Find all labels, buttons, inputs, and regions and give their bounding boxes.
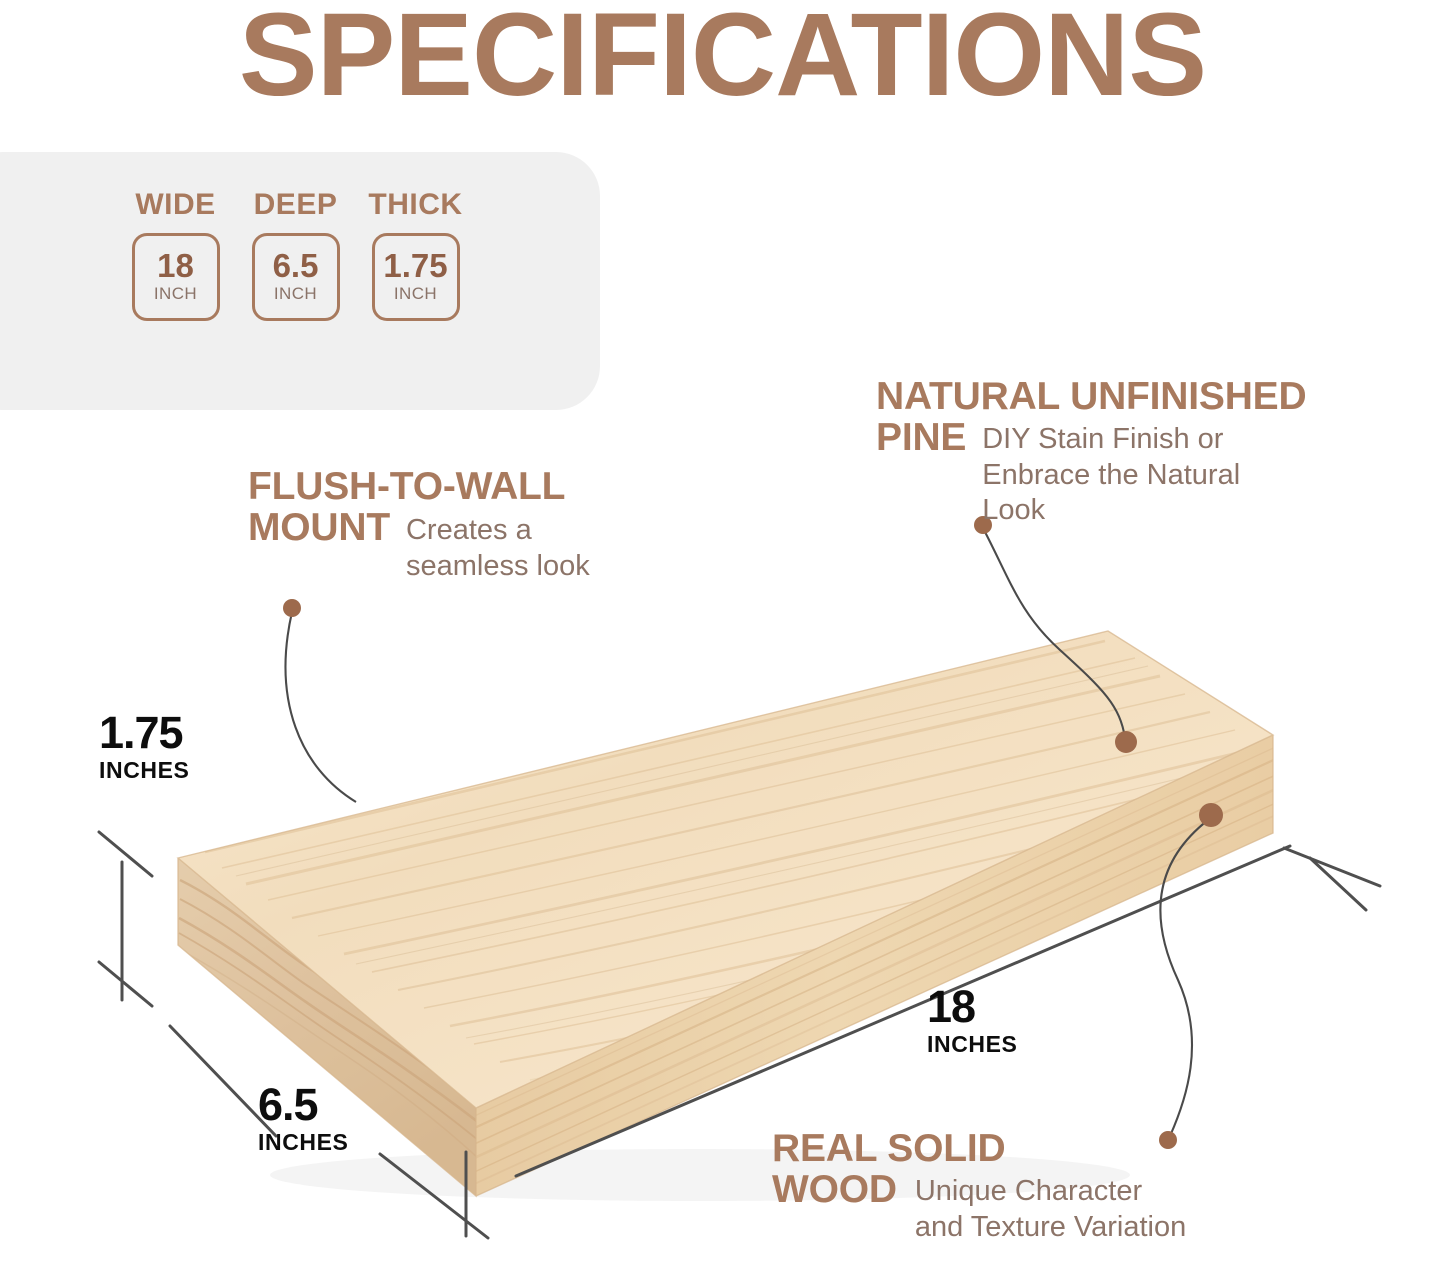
spec-unit-wide: INCH: [154, 284, 197, 304]
dimension-value-width: 18: [927, 986, 1018, 1029]
dimension-label-depth: 6.5 INCHES: [258, 1084, 349, 1156]
dimension-unit-thickness: INCHES: [99, 757, 190, 784]
callout-wood-sub-line1: Unique Character: [915, 1174, 1186, 1209]
callout-natural-unfinished-pine: NATURAL UNFINISHED PINE DIY Stain Finish…: [876, 376, 1445, 528]
spec-item-wide: WIDE 18 INCH: [130, 188, 221, 321]
callout-wood-headline-line1: REAL SOLID: [772, 1127, 1005, 1170]
spec-box-thick: 1.75 INCH: [372, 233, 460, 321]
spec-item-deep: DEEP 6.5 INCH: [250, 188, 341, 321]
callout-flush-headline-line1: FLUSH-TO-WALL: [248, 466, 768, 507]
callout-wood-sub-line2: and Texture Variation: [915, 1210, 1186, 1245]
spec-unit-deep: INCH: [274, 284, 317, 304]
leader-line-wood: [1160, 820, 1208, 1136]
leader-dot-pine-board: [1115, 731, 1137, 753]
leader-line-flush: [286, 612, 356, 802]
spec-item-thick: THICK 1.75 INCH: [370, 188, 461, 321]
spec-value-thick: 1.75: [383, 250, 447, 282]
dimension-unit-width: INCHES: [927, 1031, 1018, 1058]
callout-flush-to-wall-mount: FLUSH-TO-WALL MOUNT Creates a seamless l…: [248, 466, 768, 584]
callout-pine-sub-line2: Enbrace the Natural: [982, 458, 1240, 493]
board-face-top: [178, 628, 1276, 1108]
spec-label-wide: WIDE: [135, 188, 215, 222]
spec-items-row: WIDE 18 INCH DEEP 6.5 INCH THICK 1.75 IN…: [130, 188, 461, 321]
dimension-line-thickness: [99, 832, 152, 1006]
page-title: SPECIFICATIONS: [0, 0, 1445, 124]
spec-box-deep: 6.5 INCH: [252, 233, 340, 321]
leader-dot-flush: [283, 599, 301, 617]
callout-pine-headline-line2: PINE: [876, 417, 966, 458]
dimension-value-depth: 6.5: [258, 1084, 349, 1127]
callout-real-solid-wood: REAL SOLID WOOD Unique Character and Tex…: [772, 1128, 1432, 1245]
leader-dot-wood-board: [1199, 803, 1223, 827]
spec-value-wide: 18: [157, 250, 194, 282]
spec-box-wide: 18 INCH: [132, 233, 220, 321]
spec-unit-thick: INCH: [394, 284, 437, 304]
leader-line-pine: [984, 530, 1125, 738]
callout-pine-headline-line1: NATURAL UNFINISHED: [876, 375, 1306, 418]
infographic-canvas: SPECIFICATIONS WIDE 18 INCH DEEP 6.5 INC…: [0, 0, 1445, 1264]
callout-flush-sub-line1: Creates a: [406, 513, 590, 548]
callout-flush-headline-line2: MOUNT: [248, 507, 390, 548]
leader-lines: [286, 530, 1208, 1136]
callout-flush-sub-line2: seamless look: [406, 549, 590, 584]
callout-pine-sub-line3: Look: [982, 493, 1240, 528]
dimension-label-thickness: 1.75 INCHES: [99, 712, 190, 784]
callout-pine-sub-line1: DIY Stain Finish or: [982, 422, 1240, 457]
leader-dots: [283, 516, 1223, 1149]
callout-wood-headline-line2: WOOD: [772, 1169, 897, 1210]
dimension-value-thickness: 1.75: [99, 712, 190, 755]
spec-label-deep: DEEP: [254, 188, 338, 222]
spec-value-deep: 6.5: [273, 250, 319, 282]
dimension-unit-depth: INCHES: [258, 1129, 349, 1156]
dimension-label-width: 18 INCHES: [927, 986, 1018, 1058]
spec-label-thick: THICK: [368, 188, 462, 222]
